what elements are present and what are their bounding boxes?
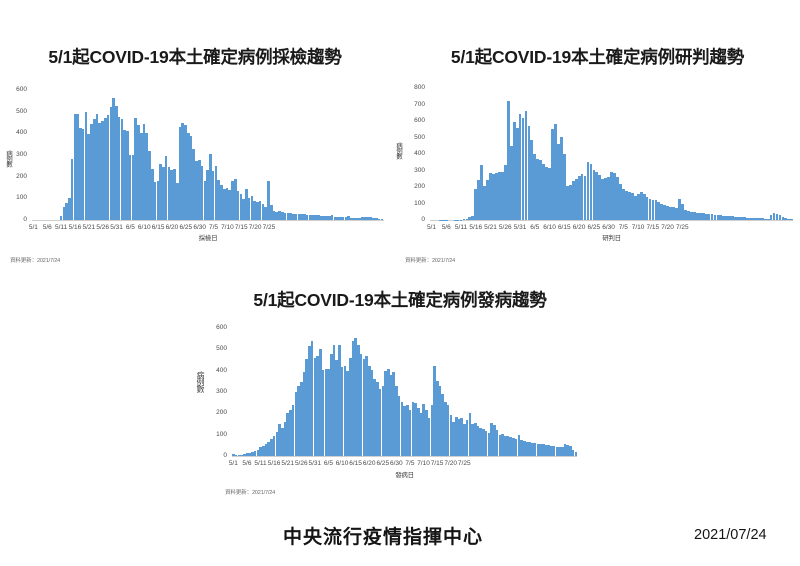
y-tick-label: 500 xyxy=(216,346,230,353)
x-tick-label: 5/26 xyxy=(295,461,308,468)
y-tick-label: 200 xyxy=(16,173,30,180)
x-tick-label: 5/6 xyxy=(242,461,251,468)
bar xyxy=(575,452,578,456)
x-tick-label: 6/25 xyxy=(179,225,192,232)
x-tick-label: 6/5 xyxy=(126,225,135,232)
x-tick-label: 5/1 xyxy=(29,225,38,232)
x-tick-label: 6/25 xyxy=(587,225,600,232)
x-tick-label: 6/30 xyxy=(390,461,403,468)
y-tick-label: 600 xyxy=(216,325,230,332)
x-tick-label: 7/10 xyxy=(417,461,430,468)
chart-panel-onset: 5/1起COVID-19本土確定病例發病趨勢 病例數 0100200300400… xyxy=(190,285,610,510)
x-tick-label: 6/10 xyxy=(543,225,556,232)
x-tick-label: 6/5 xyxy=(530,225,539,232)
x-tick-label: 5/11 xyxy=(254,461,266,468)
bar xyxy=(381,219,384,220)
source-note-onset: 資料更新：2021/7/24 xyxy=(225,488,275,496)
chart-panel-determination: 5/1起COVID-19本土確定病例研判趨勢 病例數 0100200300400… xyxy=(395,40,800,280)
x-tick-label: 6/5 xyxy=(324,461,333,468)
y-tick-label: 200 xyxy=(414,184,428,191)
x-tick-label: 5/1 xyxy=(427,225,436,232)
x-tick-label: 5/26 xyxy=(96,225,109,232)
y-tick-label: 600 xyxy=(414,118,428,125)
x-tick-label: 7/10 xyxy=(221,225,234,232)
x-tick-label: 5/11 xyxy=(55,225,67,232)
y-tick-label: 300 xyxy=(414,167,428,174)
x-tick-label: 6/10 xyxy=(336,461,349,468)
x-tick-label: 5/16 xyxy=(69,225,82,232)
plot-area-determination: 病例數 0100200300400500600700800 5/15/65/11… xyxy=(395,80,800,270)
bar-series-determination xyxy=(430,88,793,220)
footer-date: 2021/07/24 xyxy=(694,527,767,543)
y-tick-label: 800 xyxy=(414,85,428,92)
x-tick-label: 6/20 xyxy=(363,461,376,468)
x-tick-label: 7/5 xyxy=(619,225,628,232)
x-tick-label: 7/20 xyxy=(661,225,674,232)
plot-area-onset: 病例數 0100200300400500600 5/15/65/115/165/… xyxy=(190,323,610,503)
y-tick-label: 0 xyxy=(223,453,230,460)
y-axis-ticks-determination: 0100200300400500600700800 xyxy=(395,88,428,220)
bars-region-onset xyxy=(232,328,577,457)
x-tick-label: 5/21 xyxy=(281,461,294,468)
x-tick-label: 7/5 xyxy=(209,225,218,232)
x-tick-label: 5/21 xyxy=(484,225,497,232)
y-tick-label: 300 xyxy=(216,389,230,396)
y-tick-label: 0 xyxy=(23,217,30,224)
x-tick-label: 7/15 xyxy=(235,225,248,232)
x-tick-label: 6/10 xyxy=(138,225,151,232)
y-axis-ticks-onset: 0100200300400500600 xyxy=(190,328,230,456)
x-tick-label: 6/20 xyxy=(166,225,179,232)
source-note-determination: 資料更新：2021/7/24 xyxy=(405,256,455,264)
x-tick-label: 7/15 xyxy=(431,461,444,468)
x-axis-label-determination: 研判日 xyxy=(430,236,793,243)
bar-series-sampling xyxy=(32,90,384,220)
y-tick-label: 100 xyxy=(16,195,30,202)
y-tick-label: 0 xyxy=(421,217,428,224)
x-tick-label: 6/15 xyxy=(152,225,165,232)
x-tick-label: 7/25 xyxy=(263,225,276,232)
x-tick-label: 6/20 xyxy=(573,225,586,232)
x-tick-label: 6/25 xyxy=(376,461,389,468)
y-tick-label: 700 xyxy=(414,101,428,108)
chart-title-determination: 5/1起COVID-19本土確定病例研判趨勢 xyxy=(395,44,800,69)
x-tick-label: 6/30 xyxy=(602,225,615,232)
y-tick-label: 200 xyxy=(216,410,230,417)
y-tick-label: 400 xyxy=(414,151,428,158)
source-note-sampling: 資料更新：2021/7/24 xyxy=(10,256,60,264)
x-tick-label: 7/25 xyxy=(676,225,689,232)
x-tick-label: 7/20 xyxy=(249,225,262,232)
bars-region-determination xyxy=(430,88,793,221)
x-tick-label: 7/10 xyxy=(632,225,645,232)
x-tick-label: 5/1 xyxy=(229,461,238,468)
x-tick-label: 5/31 xyxy=(110,225,123,232)
chart-title-sampling: 5/1起COVID-19本土確定病例採檢趨勢 xyxy=(0,44,390,69)
x-tick-label: 5/16 xyxy=(469,225,482,232)
y-tick-label: 100 xyxy=(414,200,428,207)
plot-area-sampling: 病例數 0100200300400500600 5/15/65/115/165/… xyxy=(0,80,390,270)
y-tick-label: 400 xyxy=(216,367,230,374)
bar-series-onset xyxy=(232,328,577,456)
x-tick-label: 7/15 xyxy=(646,225,659,232)
bars-region-sampling xyxy=(32,90,384,221)
y-tick-label: 500 xyxy=(414,134,428,141)
bar xyxy=(790,219,793,220)
x-tick-label: 7/20 xyxy=(444,461,457,468)
y-tick-label: 300 xyxy=(16,152,30,159)
y-axis-ticks-sampling: 0100200300400500600 xyxy=(0,90,30,220)
x-tick-label: 5/31 xyxy=(309,461,322,468)
x-tick-label: 6/15 xyxy=(349,461,362,468)
x-axis-label-onset: 發病日 xyxy=(232,473,577,480)
footer-organization: 中央流行疫情指揮中心 xyxy=(283,522,483,549)
x-tick-label: 5/6 xyxy=(43,225,52,232)
x-tick-label: 5/11 xyxy=(455,225,467,232)
x-tick-label: 5/21 xyxy=(82,225,95,232)
x-tick-label: 5/31 xyxy=(514,225,527,232)
x-tick-label: 6/15 xyxy=(558,225,571,232)
x-axis-label-sampling: 採檢日 xyxy=(32,236,384,243)
chart-panel-sampling: 5/1起COVID-19本土確定病例採檢趨勢 病例數 0100200300400… xyxy=(0,40,390,280)
x-tick-label: 6/30 xyxy=(193,225,206,232)
chart-title-onset: 5/1起COVID-19本土確定病例發病趨勢 xyxy=(190,287,610,312)
x-tick-label: 5/6 xyxy=(442,225,451,232)
y-tick-label: 100 xyxy=(216,431,230,438)
x-tick-label: 5/16 xyxy=(268,461,281,468)
x-tick-label: 7/25 xyxy=(458,461,471,468)
y-tick-label: 600 xyxy=(16,87,30,94)
y-tick-label: 500 xyxy=(16,108,30,115)
y-tick-label: 400 xyxy=(16,130,30,137)
x-tick-label: 5/26 xyxy=(499,225,512,232)
x-tick-label: 7/5 xyxy=(405,461,414,468)
